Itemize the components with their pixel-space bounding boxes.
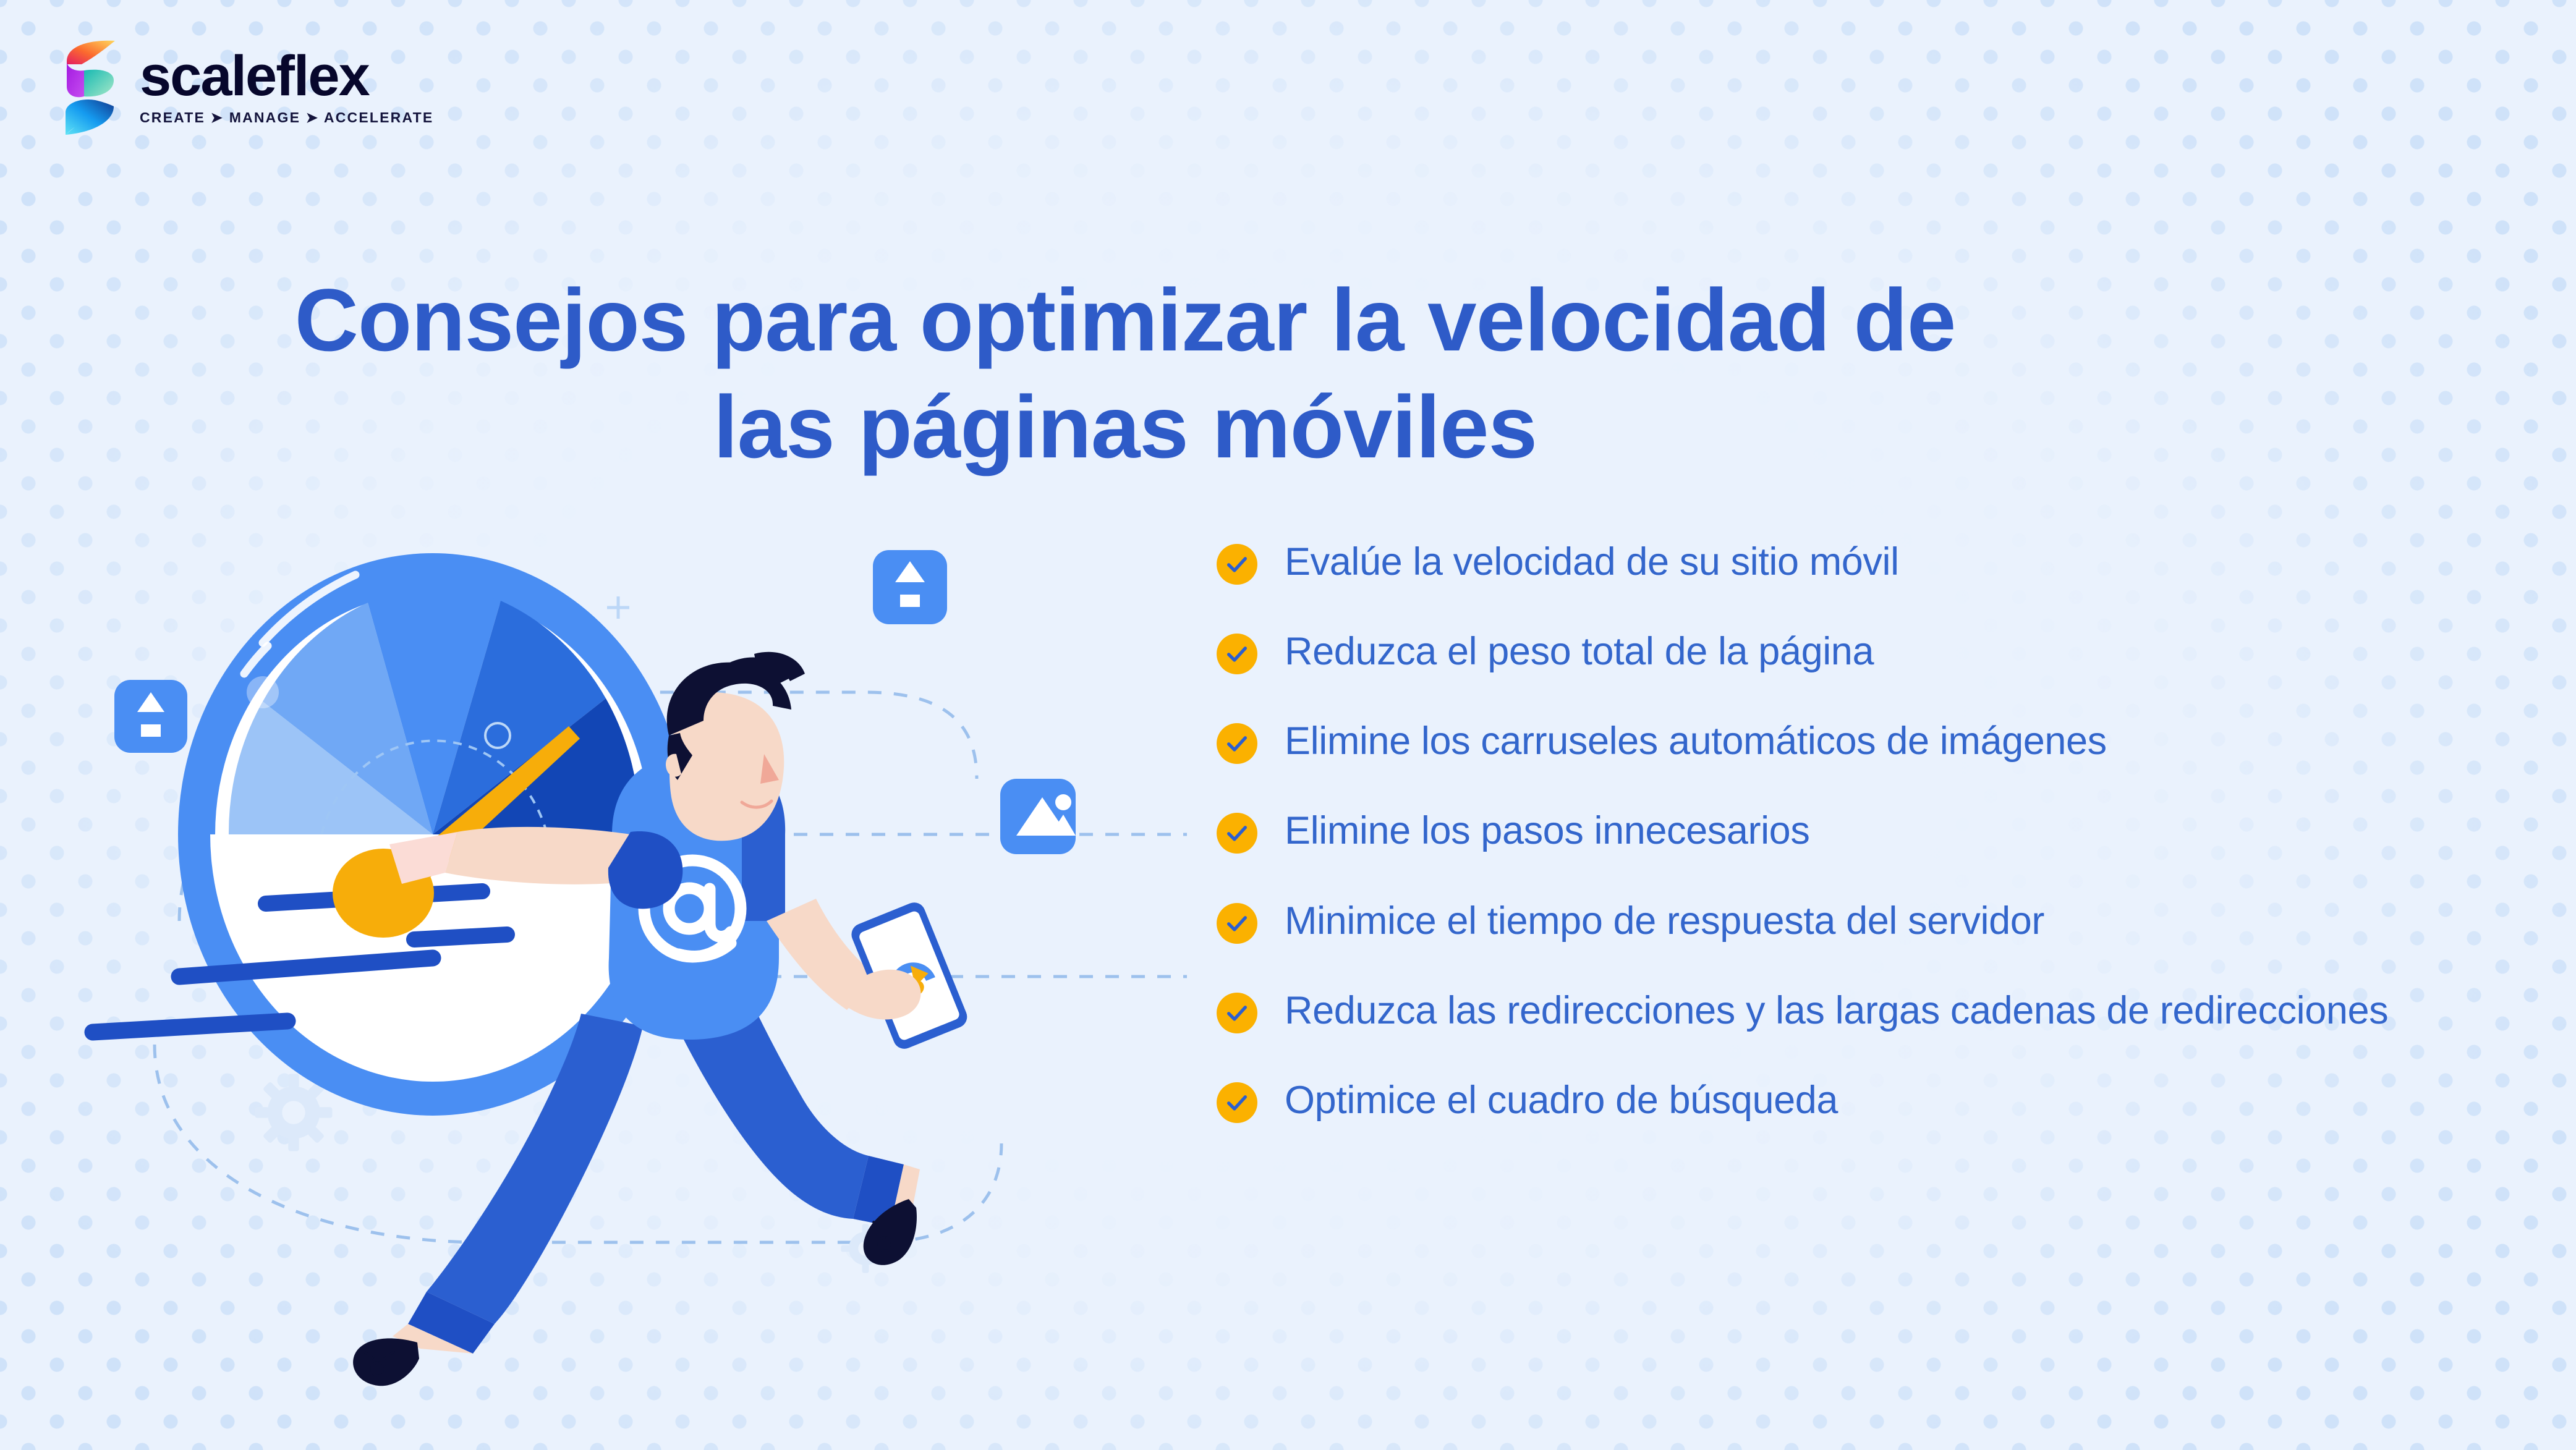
list-item[interactable]: Elimine los carruseles automáticos de im…: [1217, 716, 2509, 767]
list-item-label: Elimine los carruseles automáticos de im…: [1285, 716, 2107, 767]
list-item-label: Optimice el cuadro de búsqueda: [1285, 1075, 1838, 1126]
tips-checklist: Evalúe la velocidad de su sitio móvil Re…: [1217, 536, 2509, 1126]
list-item-label: Reduzca las redirecciones y las largas c…: [1285, 985, 2388, 1037]
badge-upload-top[interactable]: [873, 550, 947, 624]
page-title: Consejos para optimizar la velocidad de …: [0, 267, 2250, 481]
list-item[interactable]: Optimice el cuadro de búsqueda: [1217, 1075, 2509, 1126]
shoe-back: [353, 1338, 419, 1386]
scaleflex-logo[interactable]: scaleflex CREATE ➤ MANAGE ➤ ACCELERATE: [57, 38, 433, 137]
check-circle-icon: [1217, 723, 1257, 764]
list-item-label: Minimice el tiempo de respuesta del serv…: [1285, 896, 2044, 947]
list-item[interactable]: Reduzca el peso total de la página: [1217, 626, 2509, 677]
badge-image[interactable]: [1000, 779, 1076, 854]
list-item[interactable]: Elimine los pasos innecesarios: [1217, 805, 2509, 857]
check-circle-icon: [1217, 1082, 1257, 1123]
check-circle-icon: [1217, 903, 1257, 944]
scaleflex-logo-icon: [57, 38, 124, 137]
check-circle-icon: [1217, 634, 1257, 674]
list-item-label: Evalúe la velocidad de su sitio móvil: [1285, 536, 1899, 588]
check-circle-icon: [1217, 544, 1257, 585]
check-circle-icon: [1217, 813, 1257, 854]
list-item-label: Reduzca el peso total de la página: [1285, 626, 1874, 677]
runner-with-speedometer-illustration: [136, 488, 1187, 1391]
logo-wordmark: scaleflex: [140, 49, 433, 103]
badge-upload-left[interactable]: [114, 680, 187, 753]
check-circle-icon: [1217, 993, 1257, 1033]
list-item[interactable]: Evalúe la velocidad de su sitio móvil: [1217, 536, 2509, 588]
list-item[interactable]: Reduzca las redirecciones y las largas c…: [1217, 985, 2509, 1037]
list-item[interactable]: Minimice el tiempo de respuesta del serv…: [1217, 896, 2509, 947]
list-item-label: Elimine los pasos innecesarios: [1285, 805, 1809, 857]
logo-tagline: CREATE ➤ MANAGE ➤ ACCELERATE: [140, 109, 433, 126]
